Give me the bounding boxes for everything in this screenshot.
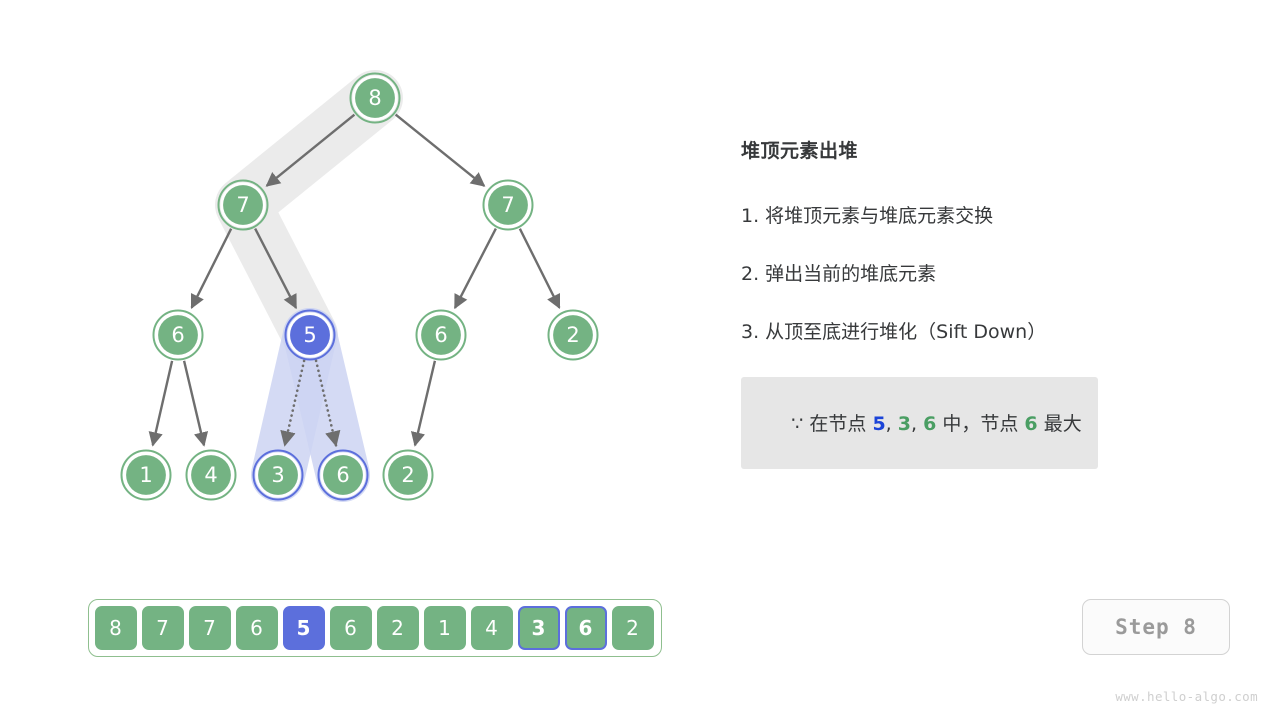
step-badge: Step 8: [1082, 599, 1230, 655]
note-value-5: 5: [872, 413, 885, 435]
note-value-6a: 6: [923, 413, 936, 435]
array-cell: 3: [518, 606, 560, 650]
tree-edge-n2-n5: [455, 229, 496, 308]
step-item-1: 1. 将堆顶元素与堆底元素交换: [741, 201, 1211, 228]
tree-node-5: [286, 311, 335, 360]
tree-node-4: [187, 451, 236, 500]
array-cell: 7: [189, 606, 231, 650]
tree-node-7: [219, 181, 268, 230]
path-highlight-stroke: [243, 98, 375, 335]
tree-edge-n2-n6: [520, 229, 560, 308]
tree-node-2: [384, 451, 433, 500]
note-value-3: 3: [898, 413, 911, 435]
array-cell: 4: [471, 606, 513, 650]
note-middle: 中，节点: [936, 413, 1024, 435]
because-symbol: ∵: [791, 413, 803, 435]
tree-edge-n3-n7: [153, 361, 172, 445]
tree-node-7: [484, 181, 533, 230]
reason-note: ∵ 在节点 5, 3, 6 中，节点 6 最大: [741, 377, 1098, 469]
note-sep-1: ,: [886, 413, 898, 435]
tree-edge-n1-n3: [192, 229, 232, 308]
step-item-2: 2. 弹出当前的堆底元素: [741, 259, 1211, 286]
note-prefix-text: 在节点: [809, 413, 872, 435]
heap-array: 877656214362: [88, 599, 662, 657]
tree-edge-n5-n11: [415, 361, 435, 446]
note-sep-2: ,: [911, 413, 923, 435]
sift-down-path-highlight: [243, 98, 375, 335]
tree-node-1: [122, 451, 171, 500]
binary-heap-tree: [0, 0, 700, 560]
tree-node-6: [417, 311, 466, 360]
tree-node-3: [254, 451, 303, 500]
array-cell: 8: [95, 606, 137, 650]
note-value-6b: 6: [1024, 413, 1037, 435]
watermark: www.hello-algo.com: [1115, 689, 1258, 704]
tree-edge-n0-n2: [396, 115, 485, 186]
array-cell: 5: [283, 606, 325, 650]
page-title: 堆顶元素出堆: [741, 136, 1211, 163]
step-item-3: 3. 从顶至底进行堆化（Sift Down）: [741, 317, 1211, 344]
tree-node-6: [154, 311, 203, 360]
tree-node-6: [319, 451, 368, 500]
array-cell: 6: [236, 606, 278, 650]
array-cell: 6: [565, 606, 607, 650]
array-cell: 2: [377, 606, 419, 650]
tree-edge-n3-n8: [184, 361, 204, 446]
tree-edges: [153, 115, 560, 446]
array-cell: 7: [142, 606, 184, 650]
tree-node-8: [351, 74, 400, 123]
tree-node-2: [549, 311, 598, 360]
array-cell: 6: [330, 606, 372, 650]
array-cell: 2: [612, 606, 654, 650]
explanation-panel: 堆顶元素出堆 1. 将堆顶元素与堆底元素交换 2. 弹出当前的堆底元素 3. 从…: [741, 136, 1211, 469]
array-cell: 1: [424, 606, 466, 650]
slide-canvas: 877656214362 877656214362 堆顶元素出堆 1. 将堆顶元…: [0, 0, 1280, 720]
note-suffix: 最大: [1038, 413, 1082, 435]
